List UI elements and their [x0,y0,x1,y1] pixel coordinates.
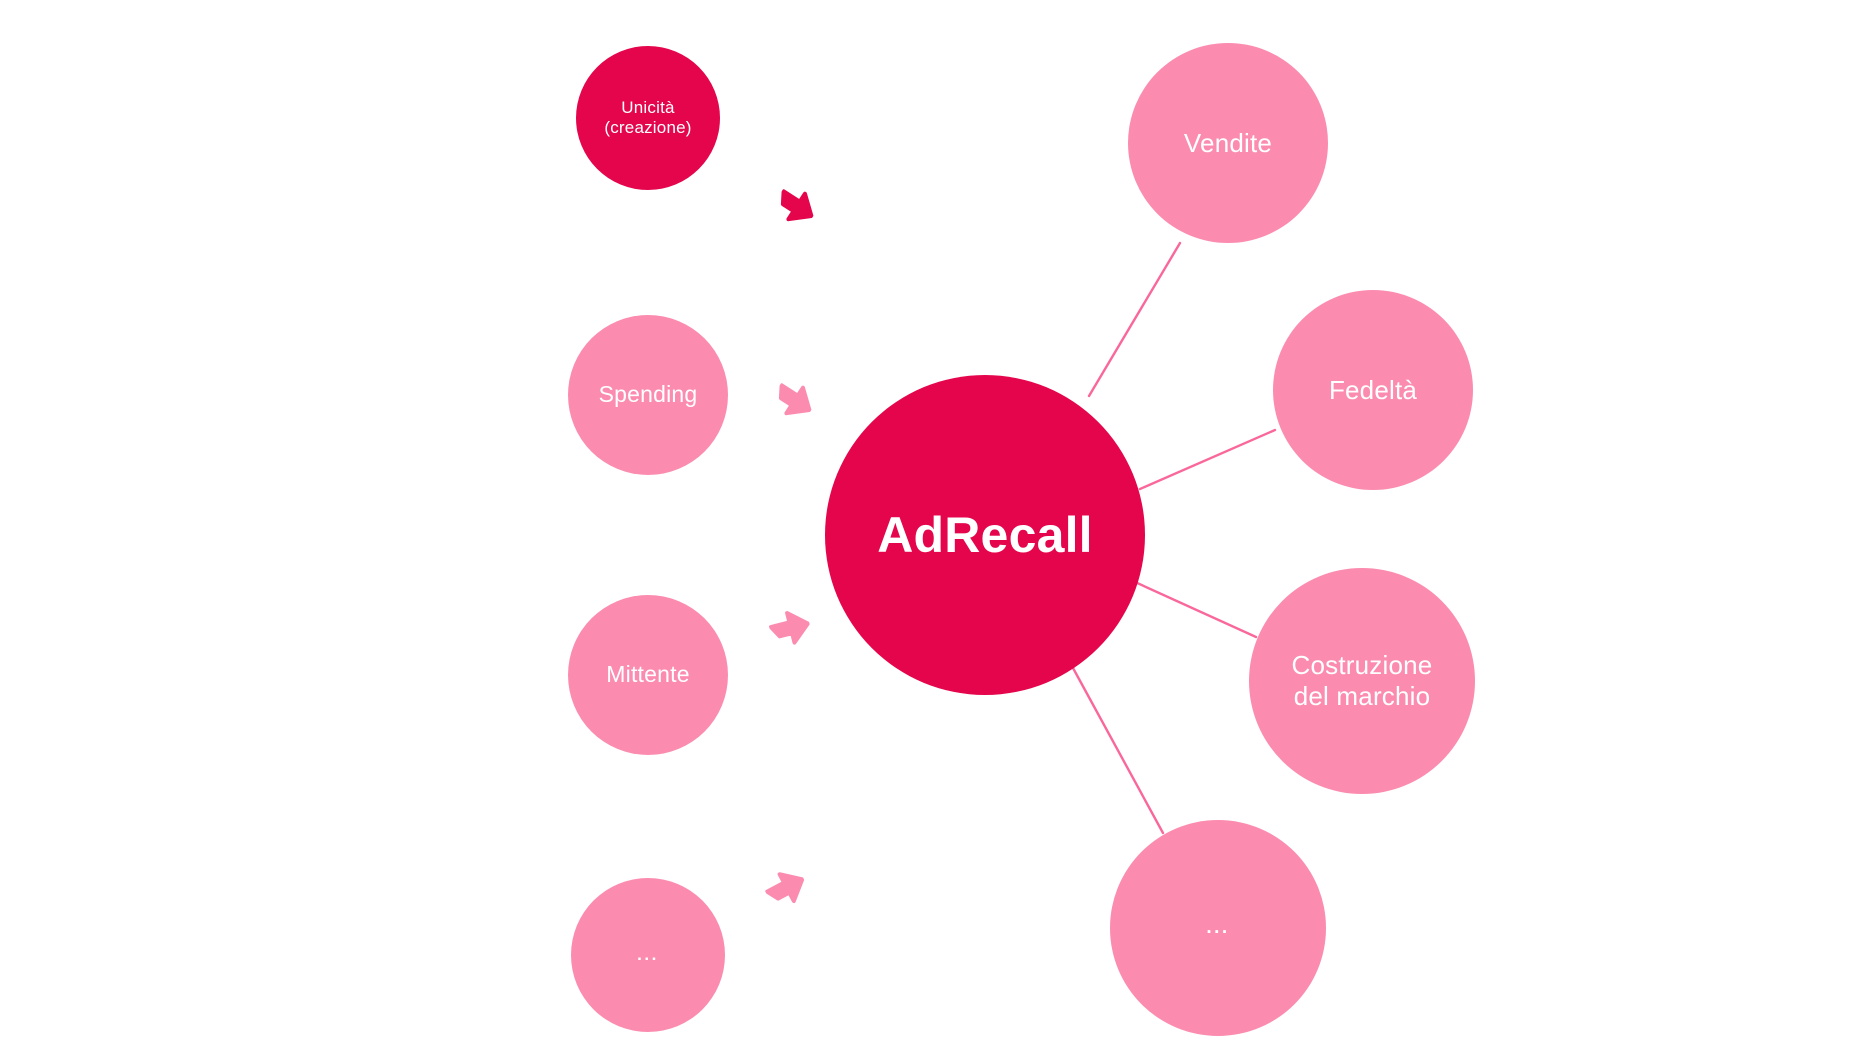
arrow-mittente-icon [766,604,814,652]
input-node-spending[interactable]: Spending [568,315,728,475]
arrow-altro-icon [759,861,813,915]
arrow-unicita-icon [768,178,823,233]
connector-line-hub-to-fedelta [1140,430,1275,489]
input-node-mittente[interactable]: Mittente [568,595,728,755]
diagram-canvas: Unicità (creazione)SpendingMittente...Ve… [0,0,1860,1047]
input-node-label: Mittente [600,661,695,688]
outcome-node-costruzione-del-marchio[interactable]: Costruzione del marchio [1249,568,1475,794]
input-node-label: Spending [593,381,704,408]
hub-node-adrecall[interactable]: AdRecall [825,375,1145,695]
input-node-altro-input[interactable]: ... [571,878,725,1032]
input-node-label: Unicità (creazione) [598,98,697,138]
outcome-node-label: Fedeltà [1323,375,1423,406]
connector-line-hub-to-vendite [1089,243,1180,396]
outcome-node-vendite[interactable]: Vendite [1128,43,1328,243]
arrow-spending-icon [766,372,821,427]
connector-line-hub-to-altro [1073,668,1163,833]
outcome-node-altro-outcome[interactable]: ... [1110,820,1326,1036]
outcome-node-label: Vendite [1178,128,1278,159]
outcome-node-label: Costruzione del marchio [1286,650,1439,711]
outcome-node-fedelta[interactable]: Fedeltà [1273,290,1473,490]
connector-line-hub-to-costruzione [1135,582,1256,637]
input-node-unicita[interactable]: Unicità (creazione) [576,46,720,190]
outcome-node-label: ... [1200,917,1235,939]
hub-node-label: AdRecall [871,506,1099,565]
input-node-label: ... [631,945,665,965]
